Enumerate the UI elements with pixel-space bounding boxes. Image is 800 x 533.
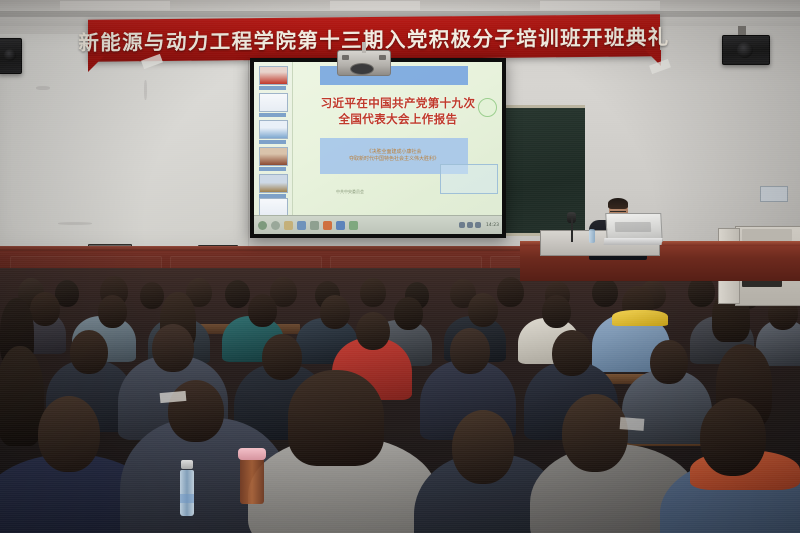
taskbar-clock[interactable]: 14:23 — [486, 223, 499, 228]
bottle-label — [180, 494, 194, 503]
audience-ponytail — [288, 370, 384, 466]
active-slide: 习近平在中国共产党第十九次 全国代表大会上作报告 《决胜全面建成小康社会 夺取新… — [292, 62, 502, 216]
audience-head — [468, 293, 498, 327]
rail-bar-3 — [259, 140, 286, 144]
rail-bar-4 — [259, 167, 286, 171]
ceiling-projector-icon — [337, 50, 391, 76]
audience-head — [552, 330, 592, 376]
audience-head — [700, 398, 766, 476]
audience-head — [168, 380, 224, 442]
slide-title-line-2: 全国代表大会上作报告 — [302, 112, 494, 128]
whiteboard-smudge-2 — [144, 80, 147, 100]
audience-head — [140, 282, 164, 309]
wall-speaker-left-icon — [0, 38, 22, 74]
rail-bar-2 — [259, 113, 286, 117]
slide-title: 习近平在中国共产党第十九次 全国代表大会上作报告 — [302, 96, 494, 127]
slide-thumbnail-4[interactable] — [259, 147, 288, 166]
browser-icon[interactable] — [297, 221, 306, 230]
os-taskbar[interactable]: 14:23 — [254, 215, 502, 234]
projector-mount — [362, 42, 366, 53]
audience-head — [356, 312, 390, 350]
audience-head — [98, 295, 127, 328]
audience-head — [542, 295, 571, 328]
projection-screen[interactable]: 习近平在中国共产党第十九次 全国代表大会上作报告 《决胜全面建成小康社会 夺取新… — [254, 62, 502, 234]
audience-head — [650, 340, 688, 384]
wall-speaker-right-icon — [722, 35, 770, 65]
audience-head — [262, 334, 302, 380]
slide-thumbnail-3[interactable] — [259, 120, 288, 139]
audience-area — [0, 268, 800, 533]
slide-thumbnail-rail[interactable] — [254, 62, 293, 234]
microphone-stand — [571, 218, 573, 242]
system-tray[interactable]: 14:23 — [459, 222, 499, 228]
app-icon-8[interactable] — [349, 221, 358, 230]
ceiling-panel-2 — [330, 1, 420, 10]
ceiling-panel-1 — [60, 1, 170, 10]
audience-head — [30, 292, 60, 326]
audience-head — [225, 280, 250, 308]
paper-sheet — [620, 417, 645, 431]
audience-head — [562, 394, 628, 472]
audience-head — [592, 278, 618, 307]
jar-lid — [238, 448, 266, 460]
slide-thumbnail-2[interactable] — [259, 93, 288, 112]
projector-vent-1 — [342, 55, 349, 60]
audience-head — [38, 396, 100, 472]
projector-vent-2 — [379, 55, 386, 60]
audience-head — [152, 324, 194, 372]
projection-screen-frame: 习近平在中国共产党第十九次 全国代表大会上作报告 《决胜全面建成小康社会 夺取新… — [250, 58, 506, 238]
volume-icon[interactable] — [467, 222, 473, 228]
folder-icon[interactable] — [284, 221, 293, 230]
water-bottle — [178, 460, 196, 516]
speaker-cone-left — [4, 49, 16, 61]
battery-icon[interactable] — [475, 222, 481, 228]
powerpoint-icon[interactable] — [323, 221, 332, 230]
audience-head — [320, 295, 350, 329]
laptop-keyboard[interactable] — [604, 238, 663, 245]
presenter-water-bottle — [589, 229, 595, 243]
tea-jar — [238, 448, 266, 504]
speaker-mount-right — [738, 26, 746, 35]
whiteboard-smudge-1 — [36, 86, 50, 90]
search-icon[interactable] — [271, 221, 280, 230]
mail-icon[interactable] — [310, 221, 319, 230]
laptop-screen-content — [615, 222, 652, 232]
slide-thumbnail-1[interactable] — [259, 66, 288, 85]
slide-subtitle-line-1: 《决胜全面建成小康社会 — [366, 149, 421, 157]
bottle-body — [180, 470, 194, 516]
slide-thumbnail-5[interactable] — [259, 174, 288, 193]
jar-body — [240, 459, 264, 504]
audience-head — [248, 294, 277, 327]
audience-head — [360, 278, 386, 307]
slide-footer-note: 中共中央委员会 — [336, 189, 364, 195]
whiteboard — [0, 34, 249, 246]
projector-lens-icon — [350, 63, 374, 75]
audience-head — [70, 330, 108, 374]
start-icon[interactable] — [258, 221, 267, 230]
network-icon[interactable] — [459, 222, 465, 228]
cabinet-indicator — [742, 229, 792, 241]
yellow-scarf — [612, 310, 668, 326]
wall-sign — [760, 186, 788, 202]
audience-head — [450, 328, 490, 374]
audience-head — [497, 277, 524, 307]
slide-subtitle-line-2: 夺取新时代中国特色社会主义伟大胜利》 — [349, 156, 439, 164]
audience-head — [452, 410, 514, 484]
presenter-view-thumbnail — [440, 164, 498, 194]
speaker-cone-right — [737, 42, 753, 58]
rail-bar-1 — [259, 86, 286, 90]
slide-title-line-1: 习近平在中国共产党第十九次 — [302, 96, 494, 112]
ceiling-panel-3 — [540, 1, 660, 10]
word-icon[interactable] — [336, 221, 345, 230]
presenter-hair — [608, 198, 628, 209]
audience-head — [394, 297, 423, 330]
whiteboard-smudge-3 — [58, 222, 92, 225]
lecture-hall-photo: 新能源与动力工程学院第十三期入党积极分子培训班开班典礼 — [0, 0, 800, 533]
bottle-cap — [181, 460, 193, 469]
